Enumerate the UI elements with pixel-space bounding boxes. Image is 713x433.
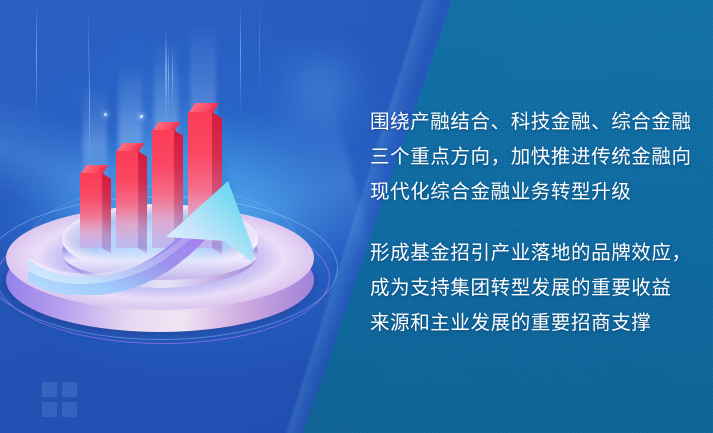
paragraph-1-line-3: 现代化综合金融业务转型升级 <box>370 174 680 209</box>
slide-canvas: 围绕产融结合、科技金融、综合金融 三个重点方向，加快推进传统金融向 现代化综合金… <box>0 0 713 433</box>
paragraph-2-line-3: 来源和主业发展的重要招商支撑 <box>370 305 680 340</box>
copy-block: 围绕产融结合、科技金融、综合金融 三个重点方向，加快推进传统金融向 现代化综合金… <box>370 104 680 340</box>
paragraph-1: 围绕产融结合、科技金融、综合金融 三个重点方向，加快推进传统金融向 现代化综合金… <box>370 104 680 209</box>
paragraph-2-line-1: 形成基金招引产业落地的品牌效应， <box>370 235 680 270</box>
platform-front-highlight <box>72 226 242 272</box>
paragraph-1-line-1: 围绕产融结合、科技金融、综合金融 <box>370 104 680 139</box>
paragraph-1-line-2: 三个重点方向，加快推进传统金融向 <box>370 139 680 174</box>
paragraph-2: 形成基金招引产业落地的品牌效应， 成为支持集团转型发展的重要收益 来源和主业发展… <box>370 235 680 340</box>
growth-chart-illustration <box>0 0 340 433</box>
paragraph-2-line-2: 成为支持集团转型发展的重要收益 <box>370 270 680 305</box>
